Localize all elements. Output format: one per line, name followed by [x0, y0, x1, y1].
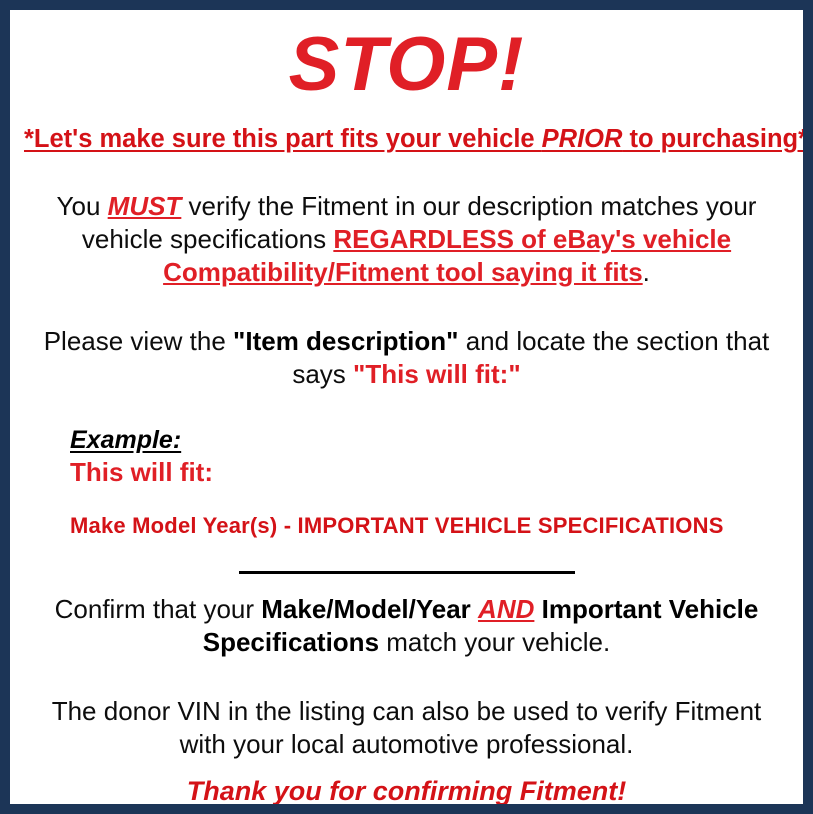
example-spec-line: Make Model Year(s) - IMPORTANT VEHICLE S… — [70, 512, 789, 539]
item-description-paragraph: Please view the "Item description" and l… — [38, 325, 775, 391]
itemdesc-part1: Please view the — [44, 326, 233, 356]
section-divider — [239, 571, 575, 574]
confirm-block: Confirm that your Make/Model/Year AND Im… — [24, 593, 789, 659]
notice-content: STOP! *Let's make sure this part fits yo… — [10, 10, 803, 804]
item-description-quote: "Item description" — [233, 326, 458, 356]
must-verify-paragraph: You MUST verify the Fitment in our descr… — [46, 190, 767, 289]
must-verify-block: You MUST verify the Fitment in our descr… — [24, 190, 789, 289]
confirm-paragraph: Confirm that your Make/Model/Year AND Im… — [40, 593, 773, 659]
and-emphasis: AND — [478, 594, 534, 624]
tagline-emphasis: PRIOR — [542, 125, 623, 153]
vin-block: The donor VIN in the listing can also be… — [24, 695, 789, 761]
must-emphasis: MUST — [108, 191, 182, 221]
tagline-prefix: *Let's make sure this part fits your veh… — [24, 125, 542, 153]
fitment-notice-card: STOP! *Let's make sure this part fits yo… — [0, 0, 813, 814]
must-part1: You — [57, 191, 108, 221]
divider-wrapper — [24, 565, 789, 579]
confirm-part1: Confirm that your — [55, 594, 262, 624]
page-title: STOP! — [24, 10, 789, 108]
item-description-block: Please view the "Item description" and l… — [24, 325, 789, 391]
thanks-message: Thank you for confirming Fitment! — [24, 775, 789, 808]
make-model-year-emphasis: Make/Model/Year — [261, 594, 471, 624]
must-part3: . — [643, 257, 650, 287]
example-label: Example: — [70, 425, 181, 455]
vin-paragraph: The donor VIN in the listing can also be… — [38, 695, 775, 761]
tagline: *Let's make sure this part fits your veh… — [24, 124, 789, 154]
tagline-suffix: to purchasing* — [622, 125, 808, 153]
this-will-fit-quote: "This will fit:" — [353, 359, 521, 389]
example-block: Example: This will fit: Make Model Year(… — [24, 425, 789, 539]
example-fit-heading: This will fit: — [70, 457, 789, 488]
confirm-part2: match your vehicle. — [379, 627, 610, 657]
example-label-row: Example: — [70, 425, 789, 455]
